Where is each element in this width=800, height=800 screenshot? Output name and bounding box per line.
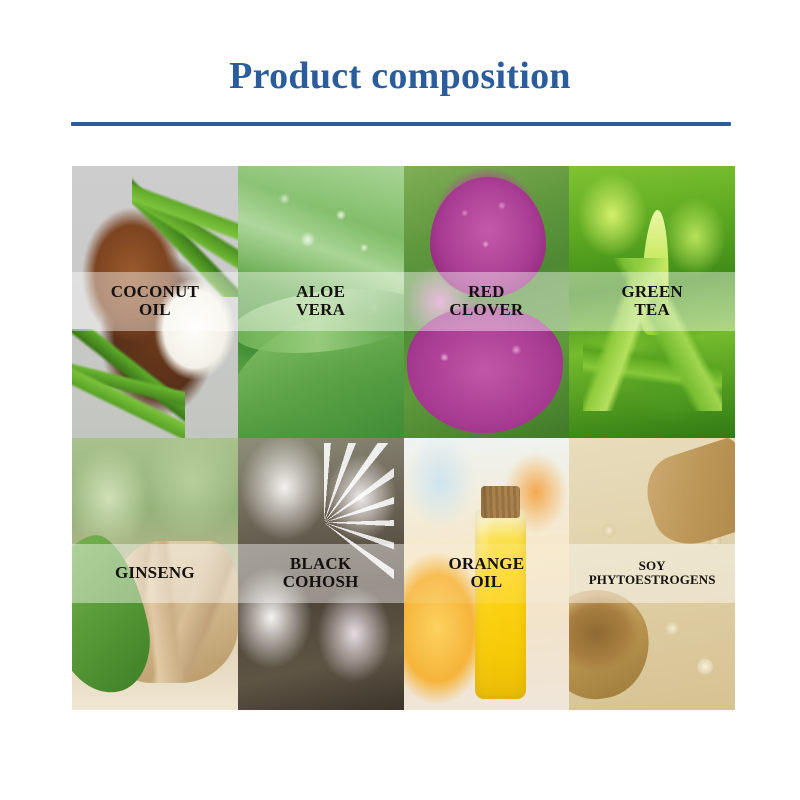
ingredient-cell-soy-phytoestrogens[interactable]: SOY PHYTOESTROGENS	[569, 438, 735, 710]
coconut-oil-label-band: COCONUT OIL	[72, 272, 238, 330]
orange-oil-label: ORANGE OIL	[445, 555, 527, 592]
ingredient-cell-orange-oil[interactable]: ORANGE OIL	[404, 438, 570, 710]
black-cohosh-label-band: BLACK COHOSH	[238, 544, 404, 602]
ingredient-cell-ginseng[interactable]: GINSENG	[72, 438, 238, 710]
aloe-vera-label: ALOE VERA	[293, 283, 348, 320]
header: Product composition	[0, 56, 800, 98]
ginseng-label-band: GINSENG	[72, 544, 238, 602]
orange-oil-label-band: ORANGE OIL	[404, 544, 570, 602]
red-clover-label: RED CLOVER	[446, 283, 526, 320]
coconut-oil-label: COCONUT OIL	[108, 283, 202, 320]
ingredient-cell-black-cohosh[interactable]: BLACK COHOSH	[238, 438, 404, 710]
soy-phytoestrogens-label-band: SOY PHYTOESTROGENS	[569, 544, 735, 602]
green-tea-label-band: GREEN TEA	[569, 272, 735, 330]
page-title: Product composition	[0, 56, 800, 98]
ingredient-cell-red-clover[interactable]: RED CLOVER	[404, 166, 570, 438]
green-tea-label: GREEN TEA	[618, 283, 685, 320]
ingredient-cell-green-tea[interactable]: GREEN TEA	[569, 166, 735, 438]
ingredient-cell-aloe-vera[interactable]: ALOE VERA	[238, 166, 404, 438]
title-divider	[71, 122, 731, 126]
aloe-vera-label-band: ALOE VERA	[238, 272, 404, 330]
ingredient-grid: COCONUT OIL ALOE VERA RED CLOVER GREEN T…	[72, 166, 735, 710]
black-cohosh-label: BLACK COHOSH	[280, 555, 362, 592]
red-clover-label-band: RED CLOVER	[404, 272, 570, 330]
ingredient-cell-coconut-oil[interactable]: COCONUT OIL	[72, 166, 238, 438]
ginseng-label: GINSENG	[112, 564, 198, 582]
product-composition-infographic: Product composition COCONUT OIL ALOE VER…	[0, 0, 800, 800]
soy-phytoestrogens-label: SOY PHYTOESTROGENS	[586, 559, 719, 587]
